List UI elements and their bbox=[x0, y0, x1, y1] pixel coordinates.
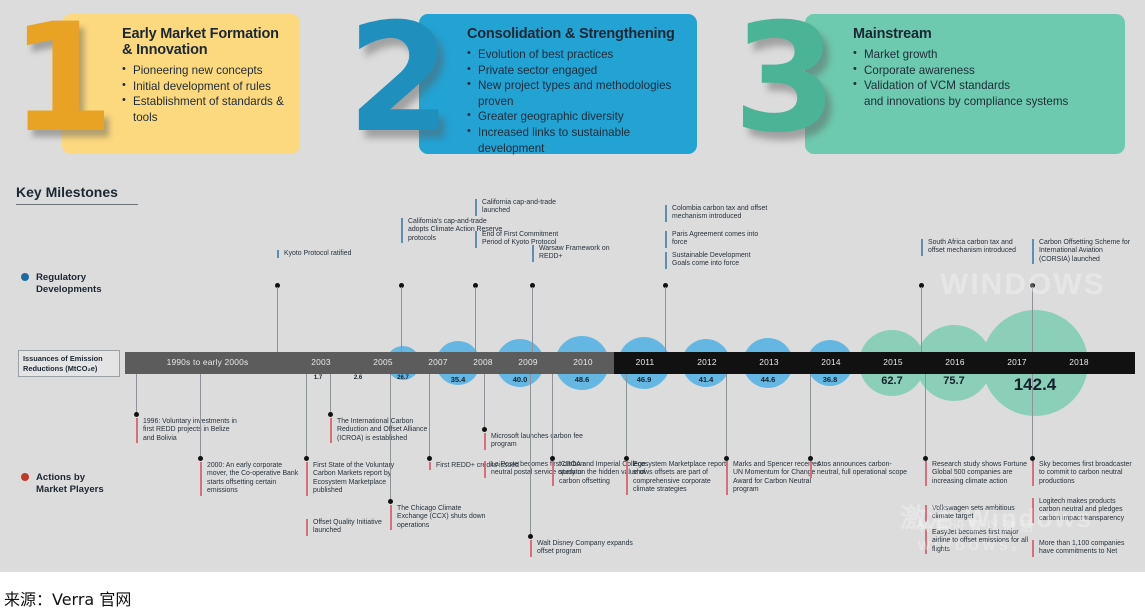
phase-bullets-2: Evolution of best practices Private sect… bbox=[467, 47, 687, 156]
event-node bbox=[388, 499, 393, 504]
event-node bbox=[482, 427, 487, 432]
event-connector bbox=[921, 287, 922, 352]
market-event: EasyJet becomes first major airline to o… bbox=[925, 529, 1028, 554]
event-node bbox=[624, 456, 629, 461]
market-event: Research study shows Fortune Global 500 … bbox=[925, 461, 1028, 486]
event-connector bbox=[532, 287, 533, 352]
phase-title-2: Consolidation & Strengthening bbox=[467, 26, 687, 42]
event-connector bbox=[726, 374, 727, 456]
regulatory-event: Warsaw Framework on REDD+ bbox=[532, 245, 635, 262]
legend-dot-regulatory bbox=[21, 273, 29, 281]
market-event: Logitech makes products carbon neutral a… bbox=[1032, 498, 1135, 523]
timeline-year-label: 2015 bbox=[862, 357, 924, 367]
timeline-year-2011: 2011 bbox=[614, 352, 676, 374]
phase-bullet: Pioneering new concepts bbox=[122, 63, 290, 79]
phase-bullet: Greater geographic diversity bbox=[467, 109, 687, 125]
market-event: More than 1,100 companies have commitmen… bbox=[1032, 540, 1135, 557]
timeline-year-label: 2019 bbox=[1110, 357, 1145, 367]
timeline-year-label: 2017 bbox=[986, 357, 1048, 367]
event-connector bbox=[330, 374, 331, 412]
phase-bullet: Market growth bbox=[853, 47, 1115, 63]
timeline-year-2012: 2012 bbox=[676, 352, 738, 374]
phase-title-3: Mainstream bbox=[853, 26, 1115, 42]
issuance-value-2018: 75.7 bbox=[914, 375, 994, 387]
timeline-year-label: 2018 bbox=[1048, 357, 1110, 367]
regulatory-event: Colombia carbon tax and offset mechanism… bbox=[665, 205, 768, 222]
timeline-year-label: 2013 bbox=[738, 357, 800, 367]
phase-card-3: 3 Mainstream Market growth Corporate awa… bbox=[805, 14, 1125, 154]
phase-bullet: Establishment of standards & tools bbox=[122, 94, 290, 125]
timeline-year-2016: 2016 bbox=[924, 352, 986, 374]
event-node bbox=[808, 456, 813, 461]
event-connector bbox=[530, 374, 531, 534]
timeline-year-2019: 2019 bbox=[1110, 352, 1145, 374]
event-connector bbox=[810, 374, 811, 456]
phase-card-2: 2 Consolidation & Strengthening Evolutio… bbox=[419, 14, 697, 154]
event-node bbox=[923, 456, 928, 461]
issuance-label-line2: Reductions (MtCO₂e) bbox=[23, 364, 115, 374]
phase-bullet-cont: and innovations by compliance systems bbox=[853, 94, 1115, 110]
market-event: Walt Disney Company expands offset progr… bbox=[530, 540, 633, 557]
phase-bullet: Validation of VCM standards bbox=[853, 78, 1115, 94]
phase-bullet: Increased links to sustainable developme… bbox=[467, 125, 687, 156]
timeline-year-label: 2011 bbox=[614, 357, 676, 367]
timeline-year-2018: 2018 bbox=[1048, 352, 1110, 374]
watermark-line1: WINDOWS bbox=[940, 268, 1106, 302]
market-event: First State of the Voluntary Carbon Mark… bbox=[306, 462, 409, 496]
issuance-label-line1: Issuances of Emission bbox=[23, 354, 115, 364]
phase-numeral-3: 3 bbox=[733, 4, 831, 154]
timeline-year-label: 2016 bbox=[924, 357, 986, 367]
market-event: 1996: Voluntary investments in first RED… bbox=[136, 418, 239, 443]
key-milestones-underline bbox=[16, 204, 138, 205]
event-node bbox=[528, 534, 533, 539]
legend-dot-actions bbox=[21, 473, 29, 481]
market-event: The Chicago Climate Exchange (CCX) shuts… bbox=[390, 505, 493, 530]
market-event: Microsoft launches carbon fee program bbox=[484, 433, 587, 450]
regulatory-event: South Africa carbon tax and offset mecha… bbox=[921, 239, 1024, 256]
timeline-year-label: 2007 bbox=[414, 357, 462, 367]
phase-bullet: Evolution of best practices bbox=[467, 47, 687, 63]
event-node bbox=[1030, 456, 1035, 461]
market-event: 2000: An early corporate mover, the Co-o… bbox=[200, 462, 303, 496]
timeline-year-2007: 2007 bbox=[414, 352, 462, 374]
timeline-year-2010: 2010 bbox=[552, 352, 614, 374]
legend-label-line1: Actions by bbox=[36, 472, 104, 484]
timeline-year-label: 2010 bbox=[552, 357, 614, 367]
timeline-year-label: 2014 bbox=[800, 357, 862, 367]
event-node bbox=[304, 456, 309, 461]
phase-bullet: Initial development of rules bbox=[122, 79, 290, 95]
event-connector bbox=[925, 374, 926, 456]
timeline-year-bar: 1990s to early 2000s20032005200720082009… bbox=[125, 352, 1135, 374]
regulatory-event: Carbon Offsetting Scheme for Internation… bbox=[1032, 239, 1135, 264]
event-connector bbox=[401, 287, 402, 352]
legend-regulatory-developments: Regulatory Developments bbox=[36, 272, 102, 295]
timeline-year-label: 2008 bbox=[462, 357, 504, 367]
event-connector bbox=[429, 374, 430, 456]
event-connector bbox=[665, 287, 666, 352]
phase-bullet-cont: proven bbox=[467, 94, 687, 110]
phase-bullet: New project types and methodologies bbox=[467, 78, 687, 94]
timeline-year-label: 1990s to early 2000s bbox=[125, 357, 290, 367]
timeline-year-label: 2005 bbox=[352, 357, 414, 367]
market-event: The International Carbon Reduction and O… bbox=[330, 418, 433, 443]
event-connector bbox=[475, 287, 476, 352]
event-connector bbox=[200, 374, 201, 456]
market-event: Volkswagen sets ambitious climate target bbox=[925, 505, 1028, 522]
event-connector bbox=[1032, 287, 1033, 352]
legend-actions-market-players: Actions by Market Players bbox=[36, 472, 104, 495]
event-connector bbox=[484, 374, 485, 427]
timeline-year-2005: 2005 bbox=[352, 352, 414, 374]
market-event: Atos announces carbon-neutral, full oper… bbox=[810, 461, 913, 478]
timeline-year-2009: 2009 bbox=[504, 352, 552, 374]
timeline-year-2008: 2008 bbox=[462, 352, 504, 374]
market-event: Ecosystem Marketplace report shows offse… bbox=[626, 461, 729, 495]
legend-label-line1: Regulatory bbox=[36, 272, 102, 284]
event-connector bbox=[136, 374, 137, 412]
event-connector bbox=[390, 374, 391, 499]
source-caption: 来源：Verra 官网 bbox=[4, 586, 131, 610]
legend-label-line2: Developments bbox=[36, 284, 102, 296]
phase-numeral-2: 2 bbox=[347, 4, 445, 154]
legend-label-line2: Market Players bbox=[36, 484, 104, 496]
event-node bbox=[550, 456, 555, 461]
phase-bullet: Corporate awareness bbox=[853, 63, 1115, 79]
event-node bbox=[134, 412, 139, 417]
regulatory-event: Paris Agreement comes into force bbox=[665, 231, 768, 248]
timeline-year-label: 2012 bbox=[676, 357, 738, 367]
timeline-year-2017: 2017 bbox=[986, 352, 1048, 374]
phase-bullet: Private sector engaged bbox=[467, 63, 687, 79]
issuance-axis-label: Issuances of Emission Reductions (MtCO₂e… bbox=[18, 350, 120, 377]
market-event: Sky becomes first broadcaster to commit … bbox=[1032, 461, 1135, 486]
event-connector bbox=[552, 374, 553, 456]
event-node bbox=[328, 412, 333, 417]
timeline-year-label: 2003 bbox=[290, 357, 352, 367]
phase-bullets-1: Pioneering new concepts Initial developm… bbox=[122, 63, 290, 125]
event-connector bbox=[1032, 374, 1033, 456]
phase-bullets-3: Market growth Corporate awareness Valida… bbox=[853, 47, 1115, 109]
phase-numeral-1: 1 bbox=[10, 4, 108, 154]
issuance-value-2019: 142.4 bbox=[995, 375, 1075, 395]
regulatory-event: Sustainable Development Goals come into … bbox=[665, 252, 768, 269]
event-node bbox=[427, 456, 432, 461]
infographic-canvas: 1 Early Market Formation & Innovation Pi… bbox=[0, 0, 1145, 572]
timeline-year-1990s-to-early-2000s: 1990s to early 2000s bbox=[125, 352, 290, 374]
event-node bbox=[198, 456, 203, 461]
event-connector bbox=[277, 287, 278, 352]
timeline-year-2003: 2003 bbox=[290, 352, 352, 374]
event-connector bbox=[626, 374, 627, 456]
phase-title-1: Early Market Formation & Innovation bbox=[122, 26, 290, 58]
timeline-year-2014: 2014 bbox=[800, 352, 862, 374]
timeline-year-2015: 2015 bbox=[862, 352, 924, 374]
key-milestones-title: Key Milestones bbox=[16, 184, 118, 200]
timeline-year-label: 2009 bbox=[504, 357, 552, 367]
regulatory-event: Kyoto Protocol ratified bbox=[277, 250, 380, 258]
event-connector bbox=[306, 374, 307, 456]
phase-card-1: 1 Early Market Formation & Innovation Pi… bbox=[62, 14, 300, 154]
timeline-year-2013: 2013 bbox=[738, 352, 800, 374]
regulatory-event: California cap-and-trade launched bbox=[475, 199, 578, 216]
event-node bbox=[724, 456, 729, 461]
